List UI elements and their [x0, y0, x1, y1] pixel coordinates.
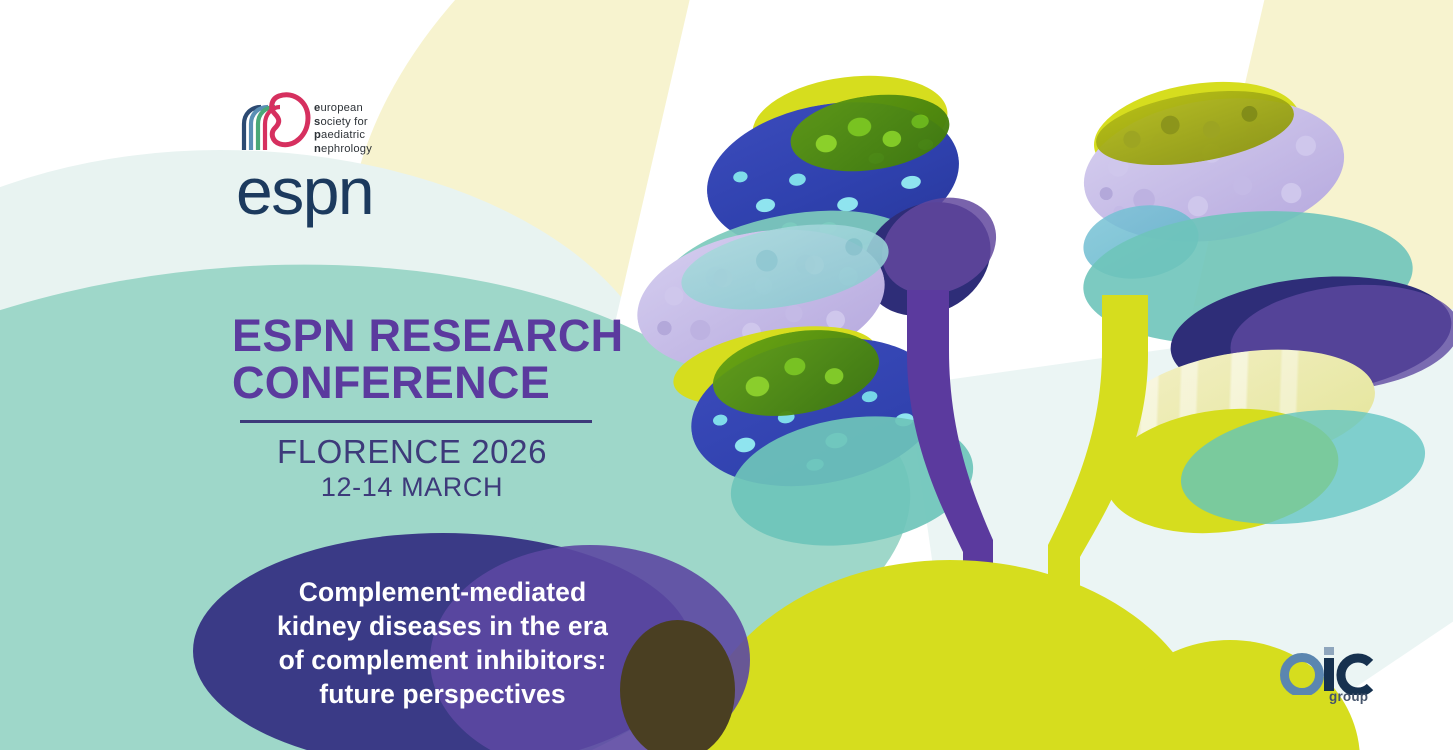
topic-line-3: of complement inhibitors: [215, 643, 670, 677]
tagline-rest-society: ociety for [320, 116, 367, 128]
espn-wordmark: espn [236, 158, 373, 224]
event-dates: 12-14 MARCH [236, 471, 588, 503]
page-title-line2: CONFERENCE [232, 359, 632, 406]
page-title-line1: ESPN RESEARCH [232, 312, 632, 359]
oic-wordmark-icon [1277, 645, 1381, 695]
tagline-initial-p: p [314, 129, 321, 141]
event-location-year: FLORENCE 2026 [236, 433, 588, 471]
topic-line-4: future perspectives [215, 677, 670, 711]
tagline-rest-nephrology: ephrology [321, 143, 372, 155]
topic-line-2: kidney diseases in the era [215, 609, 670, 643]
oic-sub-label: group [1329, 689, 1368, 704]
kidney-outline-icon [236, 88, 312, 154]
headline-block: ESPN RESEARCH CONFERENCE FLORENCE 2026 1… [232, 312, 632, 503]
espn-tagline: european society for paediatric nephrolo… [314, 102, 372, 156]
tagline-rest-european: uropean [320, 102, 362, 114]
tagline-initial-n: n [314, 143, 321, 155]
oic-group-logo: group [1277, 645, 1381, 709]
title-divider [240, 420, 592, 423]
conference-poster: european society for paediatric nephrolo… [0, 0, 1453, 750]
topic-line-1: Complement-mediated [215, 575, 670, 609]
espn-logo: european society for paediatric nephrolo… [236, 88, 421, 220]
topic-statement: Complement-mediated kidney diseases in t… [215, 575, 670, 711]
tagline-rest-paediatric: aediatric [321, 129, 365, 141]
